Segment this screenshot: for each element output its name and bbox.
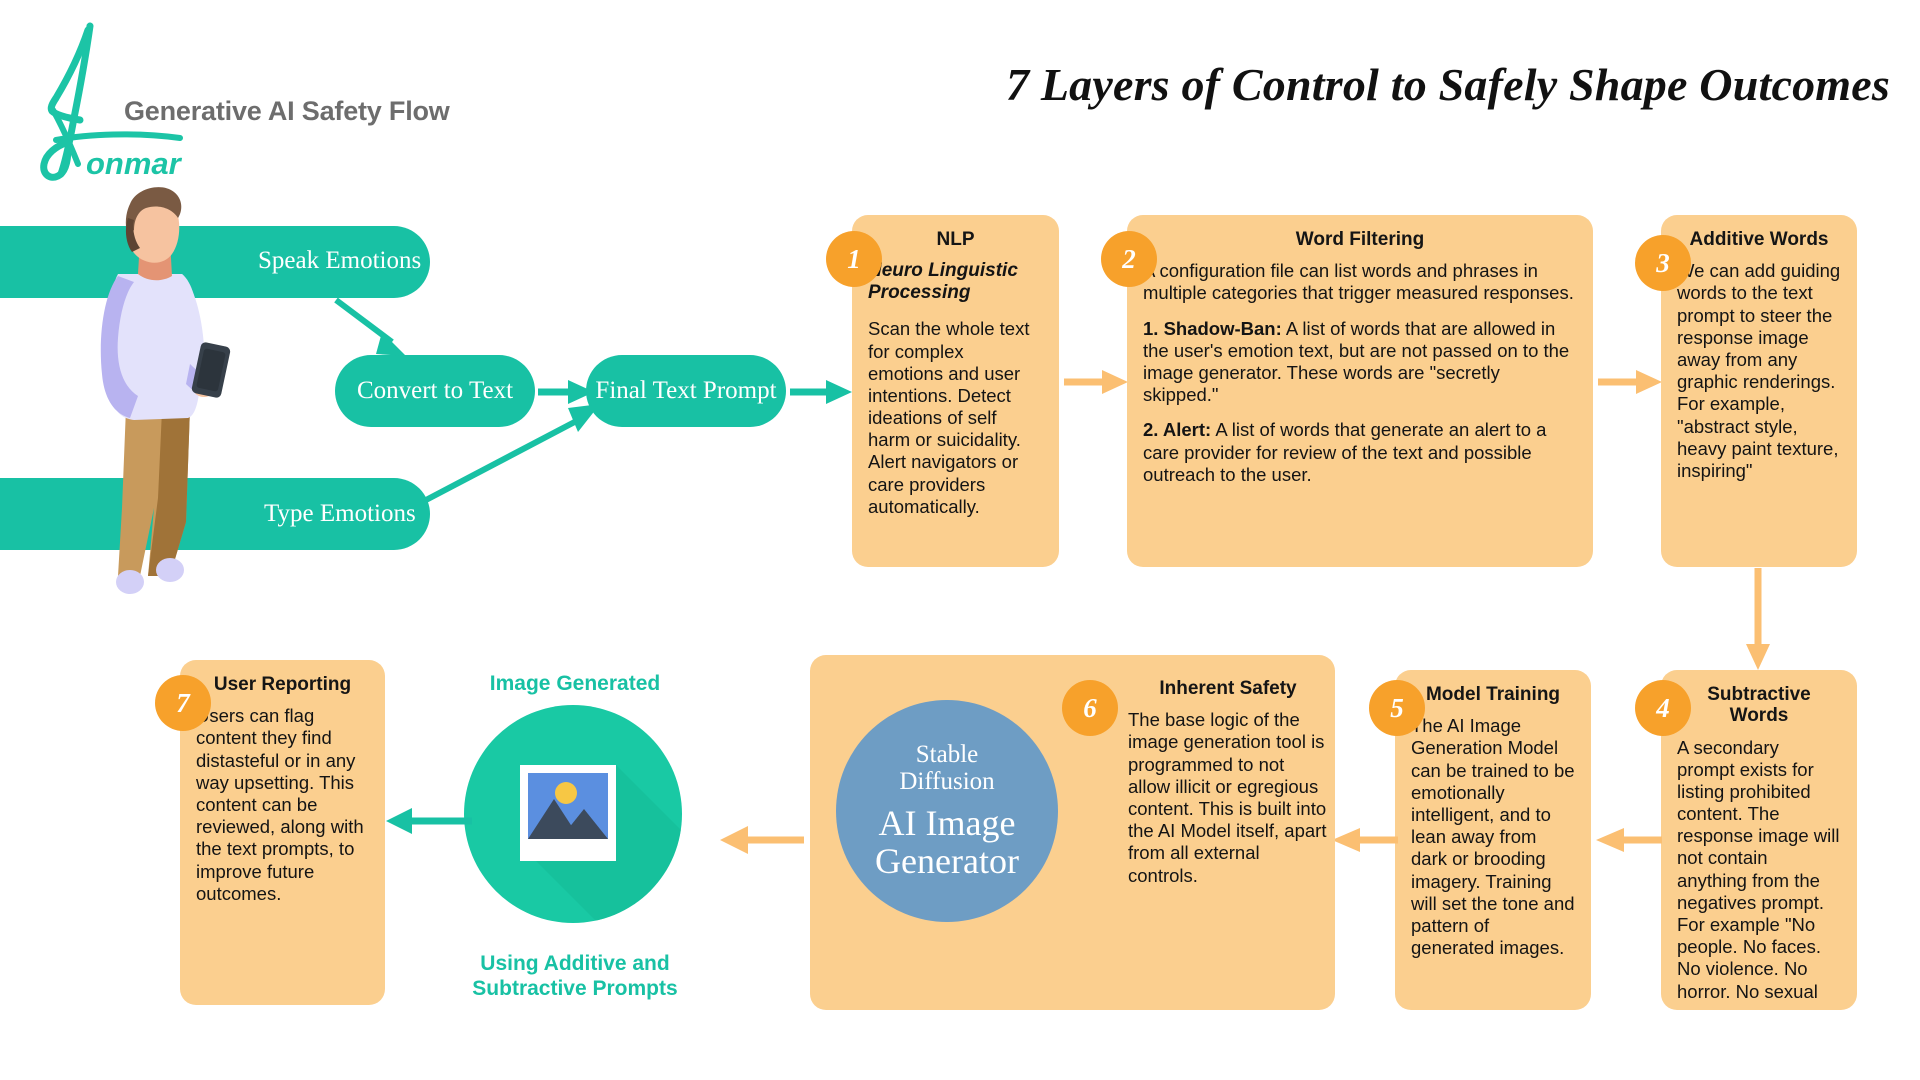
- shadow-ban-lead: 1. Shadow-Ban:: [1143, 318, 1282, 339]
- stable-diffusion-circle: Stable Diffusion AI Image Generator: [836, 700, 1058, 922]
- step-card-body-2: A configuration file can list words and …: [1143, 260, 1577, 486]
- step-card-paragraph: Users can flag content they find distast…: [196, 705, 369, 905]
- logo-block: onmar Generative AI Safety Flow: [28, 14, 498, 184]
- arrow-step4-to-step5: [1594, 822, 1664, 858]
- step-badge-3: 3: [1635, 235, 1691, 291]
- step-card-content-6: Inherent Safety The base logic of the im…: [1128, 678, 1328, 887]
- type-emotions-label: Type Emotions: [264, 500, 416, 528]
- step-card-word-filtering[interactable]: Word Filtering A configuration file can …: [1127, 215, 1593, 567]
- tool-name-line2: Generator: [875, 841, 1019, 881]
- step-card-paragraph: The AI Image Generation Model can be tra…: [1411, 715, 1575, 959]
- arrow-step2-to-step3: [1596, 364, 1664, 400]
- image-generated-circle: [464, 705, 682, 923]
- arrow-image-to-step7: [384, 806, 472, 836]
- step-card-paragraph: We can add guiding words to the text pro…: [1677, 260, 1841, 482]
- step-badge-6: 6: [1062, 680, 1118, 736]
- arrow-step5-to-step6: [1330, 822, 1400, 858]
- step-badge-7: 7: [155, 675, 211, 731]
- arrow-step6-to-image: [718, 822, 806, 858]
- alert-lead: 2. Alert:: [1143, 419, 1211, 440]
- diagram-canvas: onmar Generative AI Safety Flow 7 Layers…: [0, 0, 1920, 1080]
- step-card-paragraph: The base logic of the image generation t…: [1128, 709, 1328, 887]
- person-with-phone-illustration: [78, 178, 238, 598]
- model-name-line2: Diffusion: [899, 768, 994, 795]
- step-card-title-5: Model Training: [1411, 684, 1575, 705]
- arrow-final-to-step1: [788, 374, 854, 410]
- step-card-paragraph-alert: 2. Alert: A list of words that generate …: [1143, 419, 1577, 486]
- step-card-subtitle-1: Neuro Linguistic Processing: [868, 260, 1043, 304]
- step-badge-4: 4: [1635, 680, 1691, 736]
- arrow-step1-to-step2: [1062, 364, 1130, 400]
- step-card-body-1: Scan the whole text for complex emotions…: [868, 318, 1043, 518]
- step-card-title-7: User Reporting: [196, 674, 369, 695]
- step-card-body-4: A secondary prompt exists for listing pr…: [1677, 737, 1841, 1003]
- step-badge-2: 2: [1101, 231, 1157, 287]
- step-card-subtractive-words[interactable]: Subtractive Words A secondary prompt exi…: [1661, 670, 1857, 1010]
- page-title: 7 Layers of Control to Safely Shape Outc…: [830, 58, 1890, 111]
- final-text-prompt-node[interactable]: Final Text Prompt: [586, 355, 786, 427]
- step-card-title-1: NLP: [868, 229, 1043, 250]
- arrow-type-to-final: [418, 398, 608, 508]
- step-card-body-6: The base logic of the image generation t…: [1128, 709, 1328, 887]
- caption-line1: Using Additive and: [480, 952, 669, 975]
- brand-title: Generative AI Safety Flow: [124, 96, 450, 127]
- model-name-line1: Stable: [916, 741, 979, 768]
- step-card-body-3: We can add guiding words to the text pro…: [1677, 260, 1841, 482]
- arrow-convert-to-final: [536, 374, 596, 410]
- step-card-title-6: Inherent Safety: [1128, 678, 1328, 699]
- step-card-paragraph: A secondary prompt exists for listing pr…: [1677, 737, 1841, 1003]
- step-card-paragraph-shadow-ban: 1. Shadow-Ban: A list of words that are …: [1143, 318, 1577, 407]
- tool-name-line1: AI Image: [879, 803, 1016, 843]
- step-card-title-3: Additive Words: [1677, 229, 1841, 250]
- step-card-model-training[interactable]: Model Training The AI Image Generation M…: [1395, 670, 1591, 1010]
- arrow-step3-to-step4: [1738, 566, 1778, 672]
- tool-name: AI Image Generator: [875, 805, 1019, 880]
- step-card-body-5: The AI Image Generation Model can be tra…: [1411, 715, 1575, 959]
- step-badge-5: 5: [1369, 680, 1425, 736]
- step-card-nlp[interactable]: NLP Neuro Linguistic Processing Scan the…: [852, 215, 1059, 567]
- step-card-body-7: Users can flag content they find distast…: [196, 705, 369, 905]
- step-card-paragraph: A configuration file can list words and …: [1143, 260, 1577, 304]
- step-card-paragraph: Scan the whole text for complex emotions…: [868, 318, 1043, 518]
- model-name: Stable Diffusion: [899, 742, 994, 795]
- step-card-title-2: Word Filtering: [1143, 229, 1577, 250]
- step-badge-1: 1: [826, 231, 882, 287]
- speak-emotions-label: Speak Emotions: [258, 247, 421, 275]
- arrow-speak-to-convert: [330, 296, 450, 366]
- svg-text:onmar: onmar: [86, 146, 183, 181]
- photo-image-icon: [464, 705, 682, 923]
- step-card-title-4: Subtractive Words: [1677, 684, 1841, 727]
- image-generated-caption: Image Generated: [460, 672, 690, 696]
- image-prompts-caption: Using Additive and Subtractive Prompts: [440, 952, 710, 1002]
- caption-line2: Subtractive Prompts: [472, 977, 677, 1000]
- step-card-user-reporting[interactable]: User Reporting Users can flag content th…: [180, 660, 385, 1005]
